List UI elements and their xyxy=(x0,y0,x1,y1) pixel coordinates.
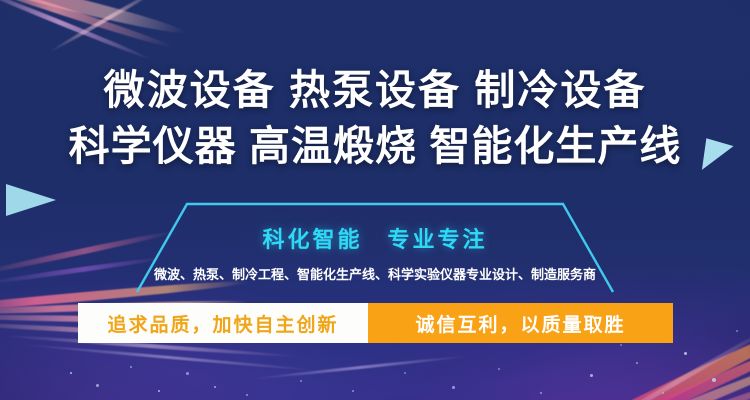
arrow-left-icon xyxy=(6,184,56,216)
page-title: 微波设备 热泵设备 制冷设备 科学仪器 高温煅烧 智能化生产线 xyxy=(0,62,750,174)
slogan-pill-row: 追求品质，加快自主创新 诚信互利，以质量取胜 xyxy=(78,303,673,343)
slogan-pill-right[interactable]: 诚信互利，以质量取胜 xyxy=(368,303,673,343)
promo-banner: 微波设备 热泵设备 制冷设备 科学仪器 高温煅烧 智能化生产线 科化智能 专业专… xyxy=(0,0,750,400)
headline-line-2: 科学仪器 高温煅烧 智能化生产线 xyxy=(0,118,750,174)
headline-line-1: 微波设备 热泵设备 制冷设备 xyxy=(0,62,750,118)
subtitle-description: 微波、热泵、制冷工程、智能化生产线、科学实验仪器专业设计、制造服务商 xyxy=(0,264,750,283)
slogan-pill-left[interactable]: 追求品质，加快自主创新 xyxy=(78,303,368,343)
subtitle-cyan: 科化智能 专业专注 xyxy=(0,222,750,254)
